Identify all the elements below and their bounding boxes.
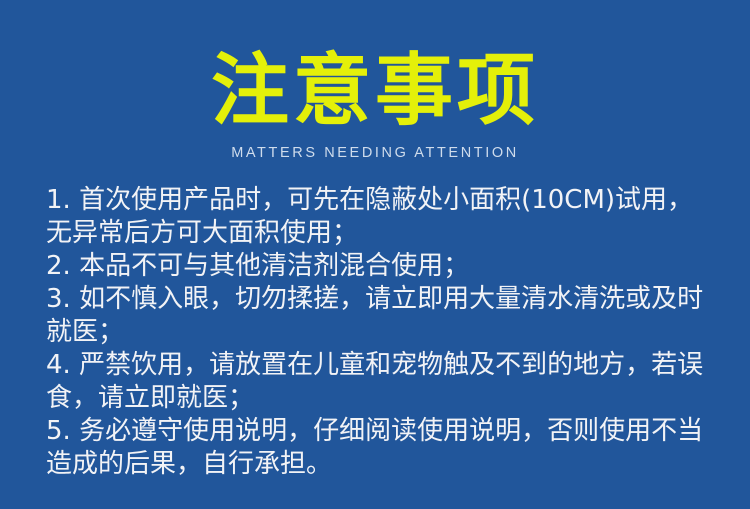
heading-block: 注意事项 MATTERS NEEDING ATTENTION [0,48,750,162]
note-item: 5. 务必遵守使用说明，仔细阅读使用说明，否则使用不当造成的后果，自行承担。 [46,415,708,481]
note-item: 2. 本品不可与其他清洁剂混合使用； [46,250,708,283]
note-item: 3. 如不慎入眼，切勿揉搓，请立即用大量清水清洗或及时就医； [46,283,708,349]
attention-poster: 注意事项 MATTERS NEEDING ATTENTION 1. 首次使用产品… [0,0,750,509]
page-subtitle: MATTERS NEEDING ATTENTION [0,144,750,162]
note-item: 1. 首次使用产品时，可先在隐蔽处小面积(10CM)试用，无异常后方可大面积使用… [46,184,708,250]
notes-list: 1. 首次使用产品时，可先在隐蔽处小面积(10CM)试用，无异常后方可大面积使用… [46,184,708,481]
page-title: 注意事项 [0,48,750,134]
note-item: 4. 严禁饮用，请放置在儿童和宠物触及不到的地方，若误食，请立即就医； [46,349,708,415]
